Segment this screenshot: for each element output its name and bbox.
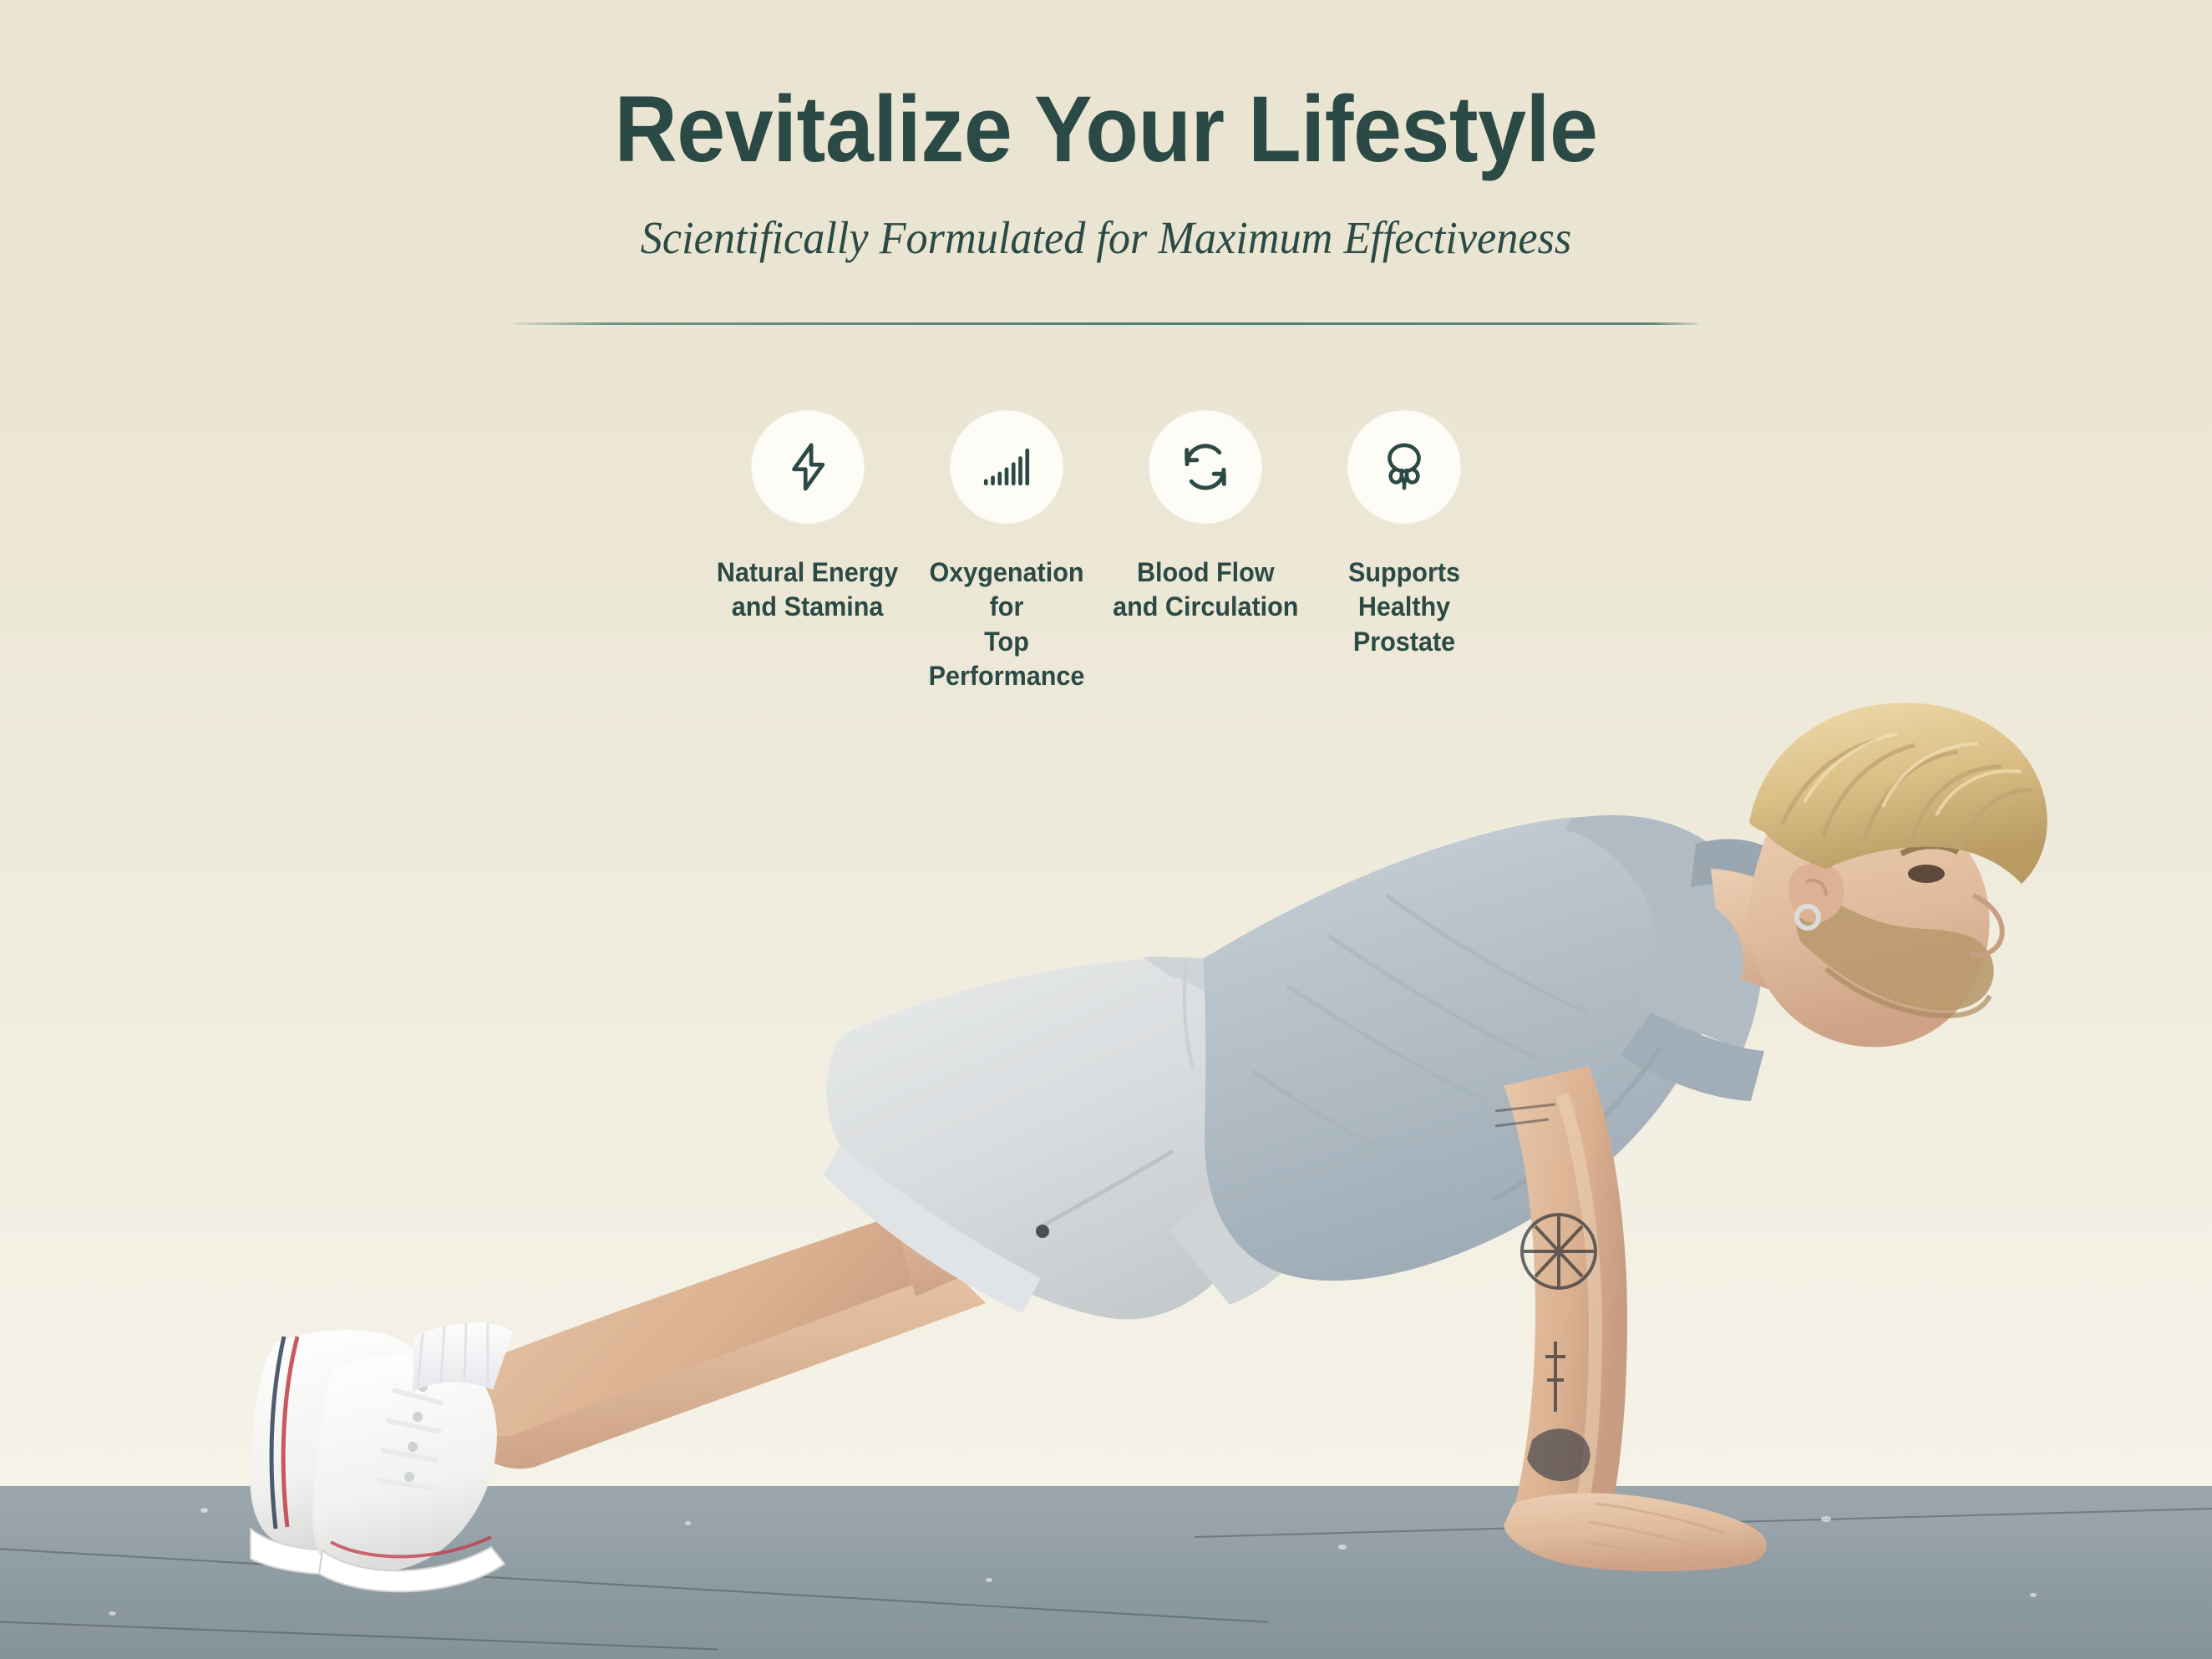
benefit-icon-badge (752, 411, 864, 523)
benefit-label: Blood Flow and Circulation (1113, 556, 1298, 625)
refresh-circulation-icon (1178, 439, 1233, 495)
benefit-blood-flow[interactable]: Blood Flow and Circulation (1106, 411, 1305, 625)
subject-shirt (1203, 815, 1784, 1281)
subject-arm (1495, 1066, 1767, 1571)
benefit-icon-badge (951, 411, 1063, 523)
benefit-label: Supports Healthy Prostate (1311, 556, 1498, 659)
prostate-icon (1376, 439, 1433, 495)
signal-bars-icon (979, 439, 1034, 495)
headline-block: Revitalize Your Lifestyle Scientifically… (0, 0, 2212, 325)
subject-shoes (250, 1322, 513, 1591)
lightning-bolt-icon (780, 439, 835, 495)
benefit-label: Natural Energy and Stamina (717, 556, 898, 625)
benefits-row: Natural Energy and Stamina Oxygenation (0, 411, 2212, 693)
benefit-icon-badge (1348, 411, 1460, 523)
poster-canvas: Revitalize Your Lifestyle Scientifically… (0, 0, 2212, 1659)
headline-divider (513, 322, 1699, 325)
benefit-natural-energy[interactable]: Natural Energy and Stamina (708, 411, 907, 625)
benefit-oxygenation[interactable]: Oxygenation for Top Performance (907, 411, 1106, 693)
page-title: Revitalize Your Lifestyle (78, 80, 2135, 179)
benefit-label: Oxygenation for Top Performance (913, 556, 1100, 693)
subject-head (1711, 703, 2047, 1047)
benefit-icon-badge (1149, 411, 1261, 523)
benefit-prostate[interactable]: Supports Healthy Prostate (1305, 411, 1504, 659)
page-subtitle: Scientifically Formulated for Maximum Ef… (55, 211, 2157, 266)
